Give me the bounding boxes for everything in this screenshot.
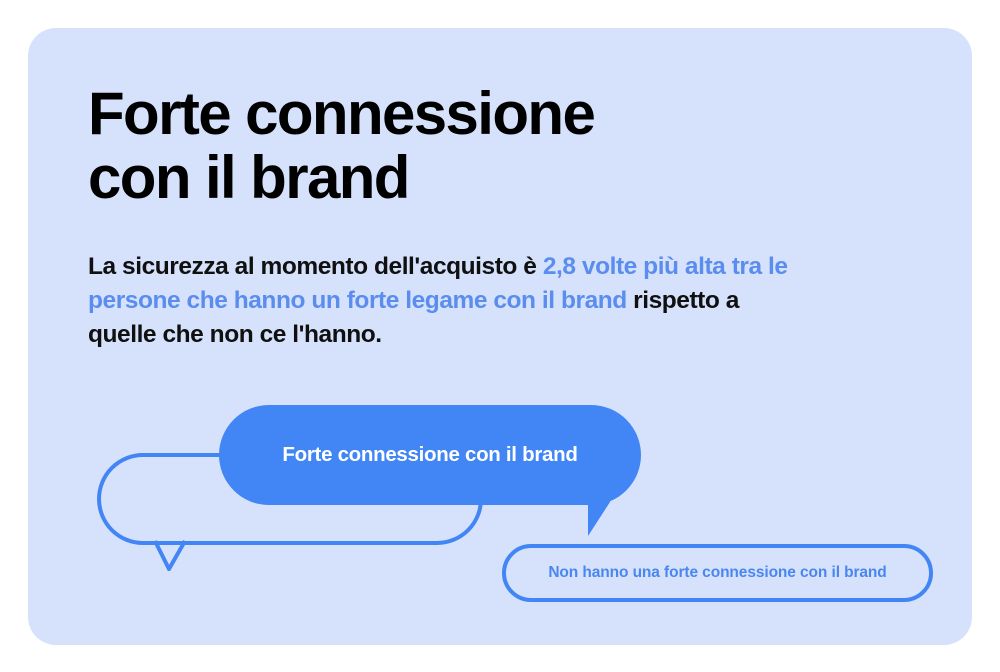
outlined-speech-bubble-tail-icon	[153, 539, 187, 571]
info-card: Forte connessione con il brand La sicure…	[28, 28, 972, 645]
screenshot-stage: Forte connessione con il brand La sicure…	[0, 0, 1000, 672]
filled-speech-bubble-label: Forte connessione con il brand	[282, 445, 577, 466]
outlined-pill-bubble: Non hanno una forte connessione con il b…	[502, 544, 933, 602]
speech-bubble-group: Non hanno una forte connessione con il b…	[28, 28, 972, 645]
filled-speech-bubble: Forte connessione con il brand	[219, 405, 641, 505]
outlined-pill-label: Non hanno una forte connessione con il b…	[548, 565, 886, 581]
